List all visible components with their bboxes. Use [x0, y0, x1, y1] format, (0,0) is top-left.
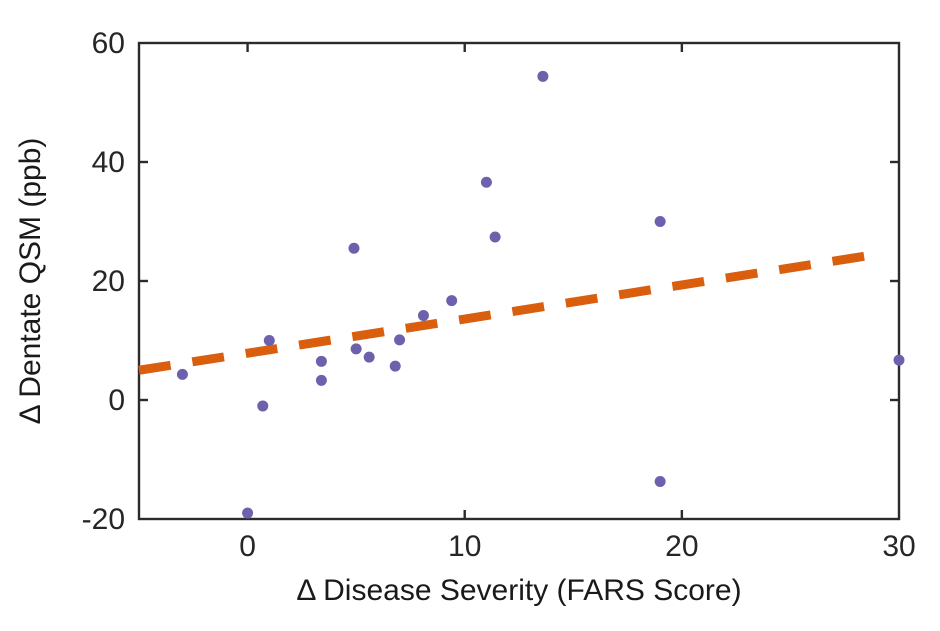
- data-point: [177, 369, 188, 380]
- data-point: [257, 400, 268, 411]
- x-axis-title: Δ Disease Severity (FARS Score): [296, 574, 741, 607]
- y-axis-title: Δ Dentate QSM (ppb): [14, 138, 47, 425]
- data-point: [390, 361, 401, 372]
- data-point: [351, 343, 362, 354]
- data-point: [364, 352, 375, 363]
- data-point: [446, 295, 457, 306]
- data-point: [418, 310, 429, 321]
- data-point: [348, 243, 359, 254]
- x-tick-label: 20: [665, 530, 698, 563]
- data-point: [655, 476, 666, 487]
- scatter-plot-figure: 0102030 -200204060 Δ Disease Severity (F…: [0, 0, 940, 631]
- data-point: [490, 231, 501, 242]
- y-tick-label: 20: [92, 265, 125, 298]
- data-point: [537, 71, 548, 82]
- data-point: [655, 216, 666, 227]
- data-point: [316, 356, 327, 367]
- plot-canvas: 0102030 -200204060 Δ Disease Severity (F…: [0, 0, 940, 631]
- y-tick-label: -20: [82, 503, 125, 536]
- data-point: [894, 355, 905, 366]
- x-tick-label: 10: [448, 530, 481, 563]
- data-point: [242, 508, 253, 519]
- y-tick-label: 0: [108, 384, 125, 417]
- y-tick-label: 60: [92, 27, 125, 60]
- data-point: [394, 334, 405, 345]
- y-tick-label: 40: [92, 146, 125, 179]
- x-tick-label: 30: [882, 530, 915, 563]
- data-point: [316, 375, 327, 386]
- data-point: [264, 335, 275, 346]
- data-point: [481, 177, 492, 188]
- x-tick-label: 0: [239, 530, 256, 563]
